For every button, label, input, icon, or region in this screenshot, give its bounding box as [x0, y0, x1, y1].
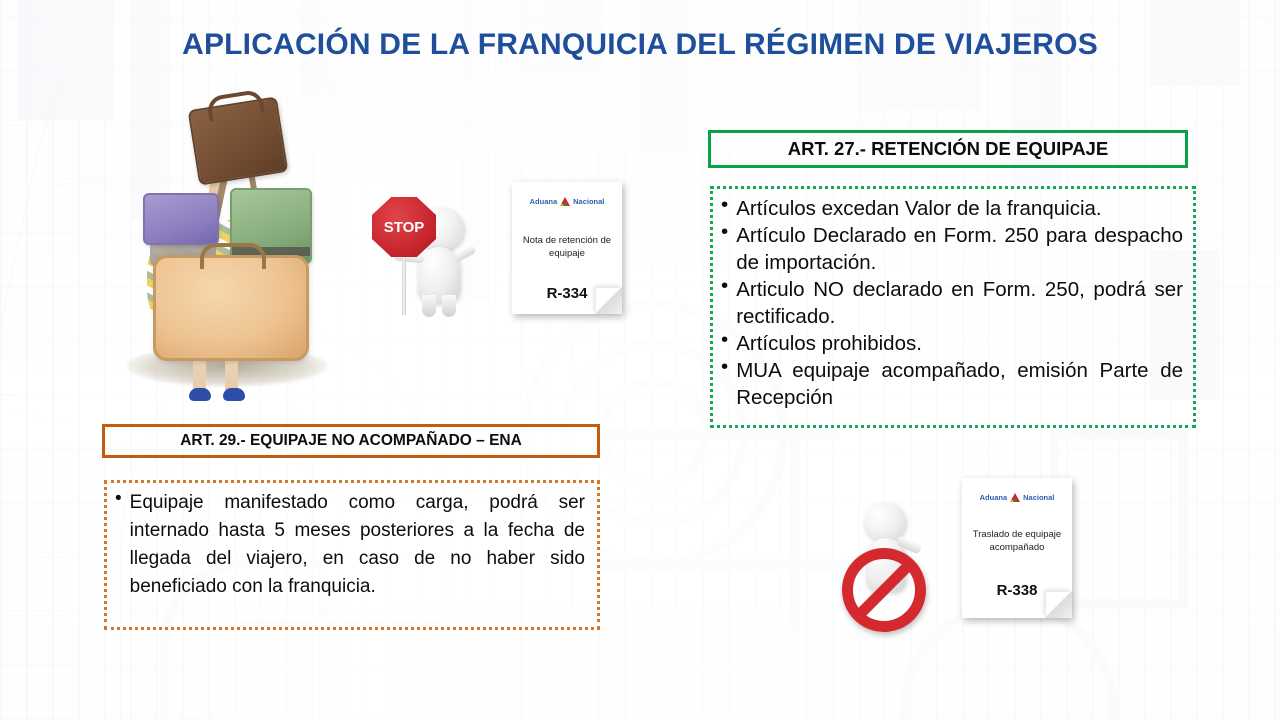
art27-header-box: ART. 27.- RETENCIÓN DE EQUIPAJE — [708, 130, 1188, 168]
logo-text-right: Nacional — [1023, 493, 1054, 502]
list-item-text: MUA equipaje acompañado, emisión Parte d… — [736, 357, 1183, 411]
document-title: Nota de retención de equipaje — [520, 230, 614, 262]
list-item-text: Artículo Declarado en Form. 250 para des… — [736, 222, 1183, 276]
figure-arm-right — [453, 244, 477, 262]
list-item: • Artículo Declarado en Form. 250 para d… — [721, 222, 1183, 276]
document-card-r334[interactable]: Aduana Nacional Nota de retención de equ… — [512, 182, 622, 314]
prohibition-figure-illustration — [838, 498, 943, 610]
bullet-glyph: • — [721, 330, 728, 351]
bullet-glyph: • — [115, 489, 122, 508]
aduana-nacional-logo: Aduana Nacional — [512, 197, 622, 206]
mountain-triangle-icon — [1010, 493, 1020, 502]
bullet-glyph: • — [721, 357, 728, 378]
art27-header-label: ART. 27.- RETENCIÓN DE EQUIPAJE — [788, 138, 1108, 160]
art29-header-label: ART. 29.- EQUIPAJE NO ACOMPAÑADO – ENA — [180, 432, 522, 450]
page-title: APLICACIÓN DE LA FRANQUICIA DEL RÉGIMEN … — [0, 28, 1280, 62]
list-item: • Artículos prohibidos. — [721, 330, 1183, 357]
aduana-nacional-logo: Aduana Nacional — [962, 493, 1072, 502]
list-item: • MUA equipaje acompañado, emisión Parte… — [721, 357, 1183, 411]
bullet-glyph: • — [721, 222, 728, 243]
art27-content-box: • Artículos excedan Valor de la franquic… — [710, 186, 1196, 428]
stop-figure-illustration: STOP — [360, 195, 475, 320]
logo-text-left: Aduana — [530, 197, 558, 206]
list-item-text: Artículos prohibidos. — [736, 330, 1183, 357]
list-item: • Articulo NO declarado en Form. 250, po… — [721, 276, 1183, 330]
art29-content-box: • Equipaje manifestado como carga, podrá… — [104, 480, 600, 630]
logo-text-right: Nacional — [573, 197, 604, 206]
list-item: • Artículos excedan Valor de la franquic… — [721, 195, 1183, 222]
no-entry-icon — [842, 548, 926, 632]
art29-header-box: ART. 29.- EQUIPAJE NO ACOMPAÑADO – ENA — [102, 424, 600, 458]
list-item-text: Artículos excedan Valor de la franquicia… — [736, 195, 1183, 222]
page-curl-corner — [1046, 592, 1072, 618]
stop-sign-icon: STOP — [372, 197, 436, 257]
art29-bullet-list: • Equipaje manifestado como carga, podrá… — [115, 489, 585, 601]
slide-canvas: APLICACIÓN DE LA FRANQUICIA DEL RÉGIMEN … — [0, 0, 1280, 720]
bullet-glyph: • — [721, 195, 728, 216]
logo-text-left: Aduana — [980, 493, 1008, 502]
mountain-triangle-icon — [560, 197, 570, 206]
document-title: Traslado de equipaje acompañado — [970, 524, 1064, 556]
traveler-with-luggage-illustration — [105, 100, 345, 400]
bullet-glyph: • — [721, 276, 728, 297]
art27-bullet-list: • Artículos excedan Valor de la franquic… — [721, 195, 1183, 411]
page-curl-corner — [596, 288, 622, 314]
figure-leg-right — [442, 295, 456, 317]
document-card-r338[interactable]: Aduana Nacional Traslado de equipaje aco… — [962, 478, 1072, 618]
list-item-text: Articulo NO declarado en Form. 250, podr… — [736, 276, 1183, 330]
list-item: • Equipaje manifestado como carga, podrá… — [115, 489, 585, 601]
list-item-text: Equipaje manifestado como carga, podrá s… — [130, 489, 585, 601]
figure-leg-left — [422, 295, 436, 317]
